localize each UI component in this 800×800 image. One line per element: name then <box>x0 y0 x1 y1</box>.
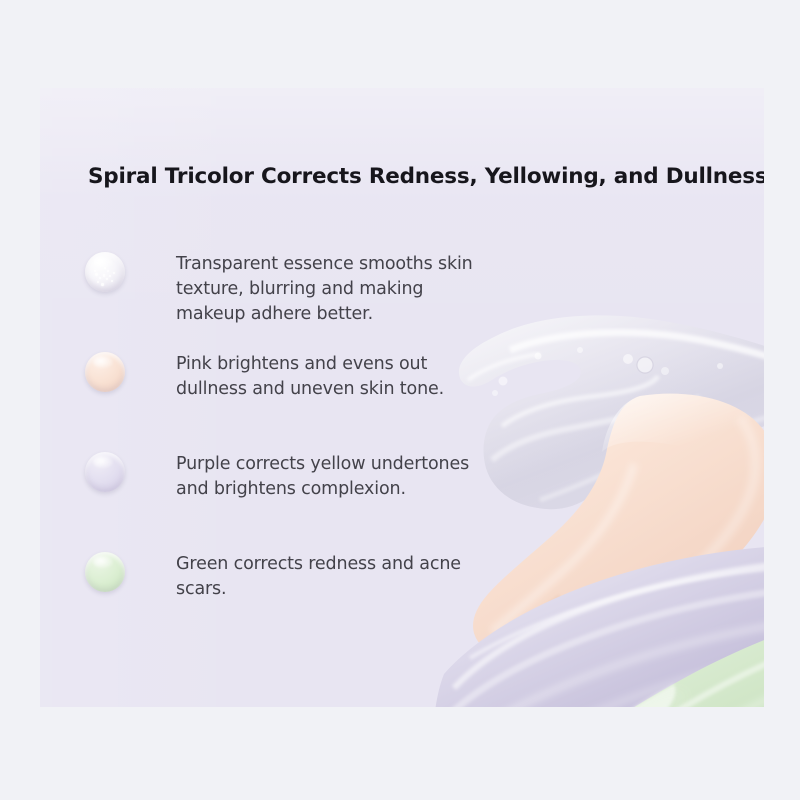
list-item-label: Pink brightens and evens out dullness an… <box>176 352 485 402</box>
clear-gel-swatch <box>85 252 125 292</box>
pink-cream-swatch <box>85 352 125 392</box>
list-item: Pink brightens and evens out dullness an… <box>85 352 485 430</box>
gel-speck-texture <box>85 252 125 292</box>
gel-texture <box>459 315 764 509</box>
purple-cream-swatch <box>85 452 125 492</box>
list-item-label: Transparent essence smooths skin texture… <box>176 252 485 327</box>
green-cream-swatch <box>85 552 125 592</box>
feature-card: Spiral Tricolor Corrects Redness, Yellow… <box>40 88 764 707</box>
list-item-label: Purple corrects yellow undertones and br… <box>176 452 485 502</box>
swatch-wrapper <box>85 552 127 594</box>
feature-list: Transparent essence smooths skin texture… <box>85 252 485 630</box>
swatch-wrapper <box>85 352 127 394</box>
list-item-label: Green corrects redness and acne scars. <box>176 552 485 602</box>
list-item: Purple corrects yellow undertones and br… <box>85 452 485 530</box>
swatch-wrapper <box>85 252 127 294</box>
pink-cream-texture <box>473 394 764 662</box>
list-item: Transparent essence smooths skin texture… <box>85 252 485 330</box>
list-item: Green corrects redness and acne scars. <box>85 552 485 630</box>
green-cream-texture <box>470 616 764 707</box>
product-feature-graphic: Spiral Tricolor Corrects Redness, Yellow… <box>0 0 800 800</box>
swatch-wrapper <box>85 452 127 494</box>
page-title: Spiral Tricolor Corrects Redness, Yellow… <box>88 164 728 190</box>
